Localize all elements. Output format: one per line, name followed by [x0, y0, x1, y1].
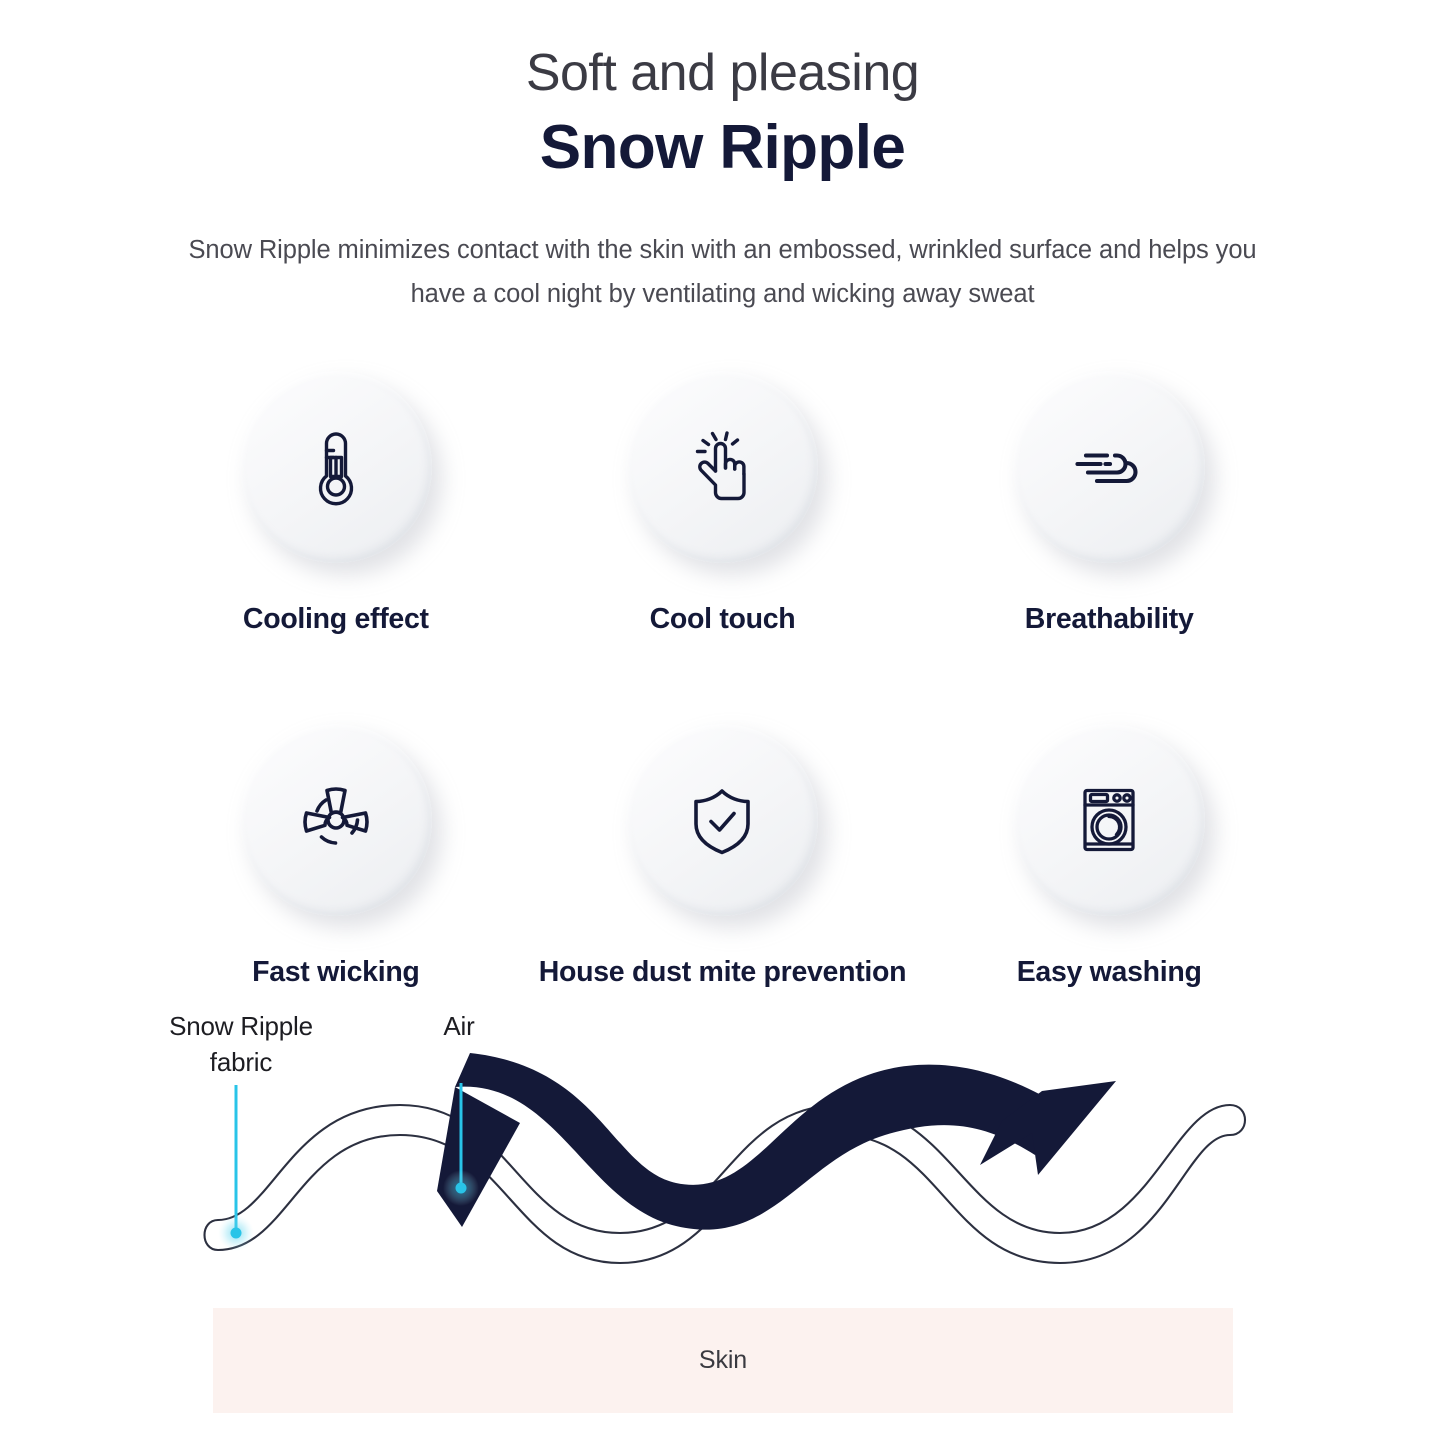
feature-icon-badge	[626, 371, 818, 563]
page-title: Snow Ripple	[0, 112, 1445, 183]
feature-label: Cool touch	[650, 603, 796, 636]
feature-item-fast-wicking: Fast wicking	[143, 724, 530, 989]
product-feature-page: Soft and pleasing Snow Ripple Snow Rippl…	[0, 0, 1445, 1445]
feature-item-breathability: Breathability	[916, 371, 1303, 636]
feature-icon-badge	[240, 371, 432, 563]
page-subtitle: Snow Ripple minimizes contact with the s…	[168, 229, 1278, 317]
feature-item-dust-mite-prevention: House dust mite prevention	[529, 724, 916, 989]
skin-band: Skin	[213, 1308, 1233, 1413]
callout-leader-fabric	[218, 1085, 254, 1251]
feature-item-easy-washing: Easy washing	[916, 724, 1303, 989]
feature-icon-badge	[1013, 371, 1205, 563]
feature-label: Cooling effect	[243, 603, 429, 636]
callout-label-fabric: Snow Ripple fabric	[146, 1008, 336, 1081]
shield-check-icon	[679, 777, 765, 863]
feature-icon-badge	[1013, 724, 1205, 916]
feature-label: Breathability	[1025, 603, 1194, 636]
thermometer-icon	[293, 424, 379, 510]
feature-item-cooling-effect: Cooling effect	[143, 371, 530, 636]
feature-item-cool-touch: Cool touch	[529, 371, 916, 636]
wind-icon	[1064, 422, 1154, 512]
skin-label: Skin	[699, 1346, 747, 1375]
page-header: Soft and pleasing Snow Ripple Snow Rippl…	[0, 0, 1445, 317]
callout-label-air: Air	[384, 1008, 534, 1044]
touch-hand-icon	[679, 424, 765, 510]
feature-icon-badge	[626, 724, 818, 916]
page-eyebrow: Soft and pleasing	[0, 44, 1445, 104]
feature-grid: Cooling effect	[143, 371, 1303, 989]
fan-blades-icon	[291, 775, 381, 865]
washing-machine-icon	[1066, 777, 1152, 863]
feature-icon-badge	[240, 724, 432, 916]
